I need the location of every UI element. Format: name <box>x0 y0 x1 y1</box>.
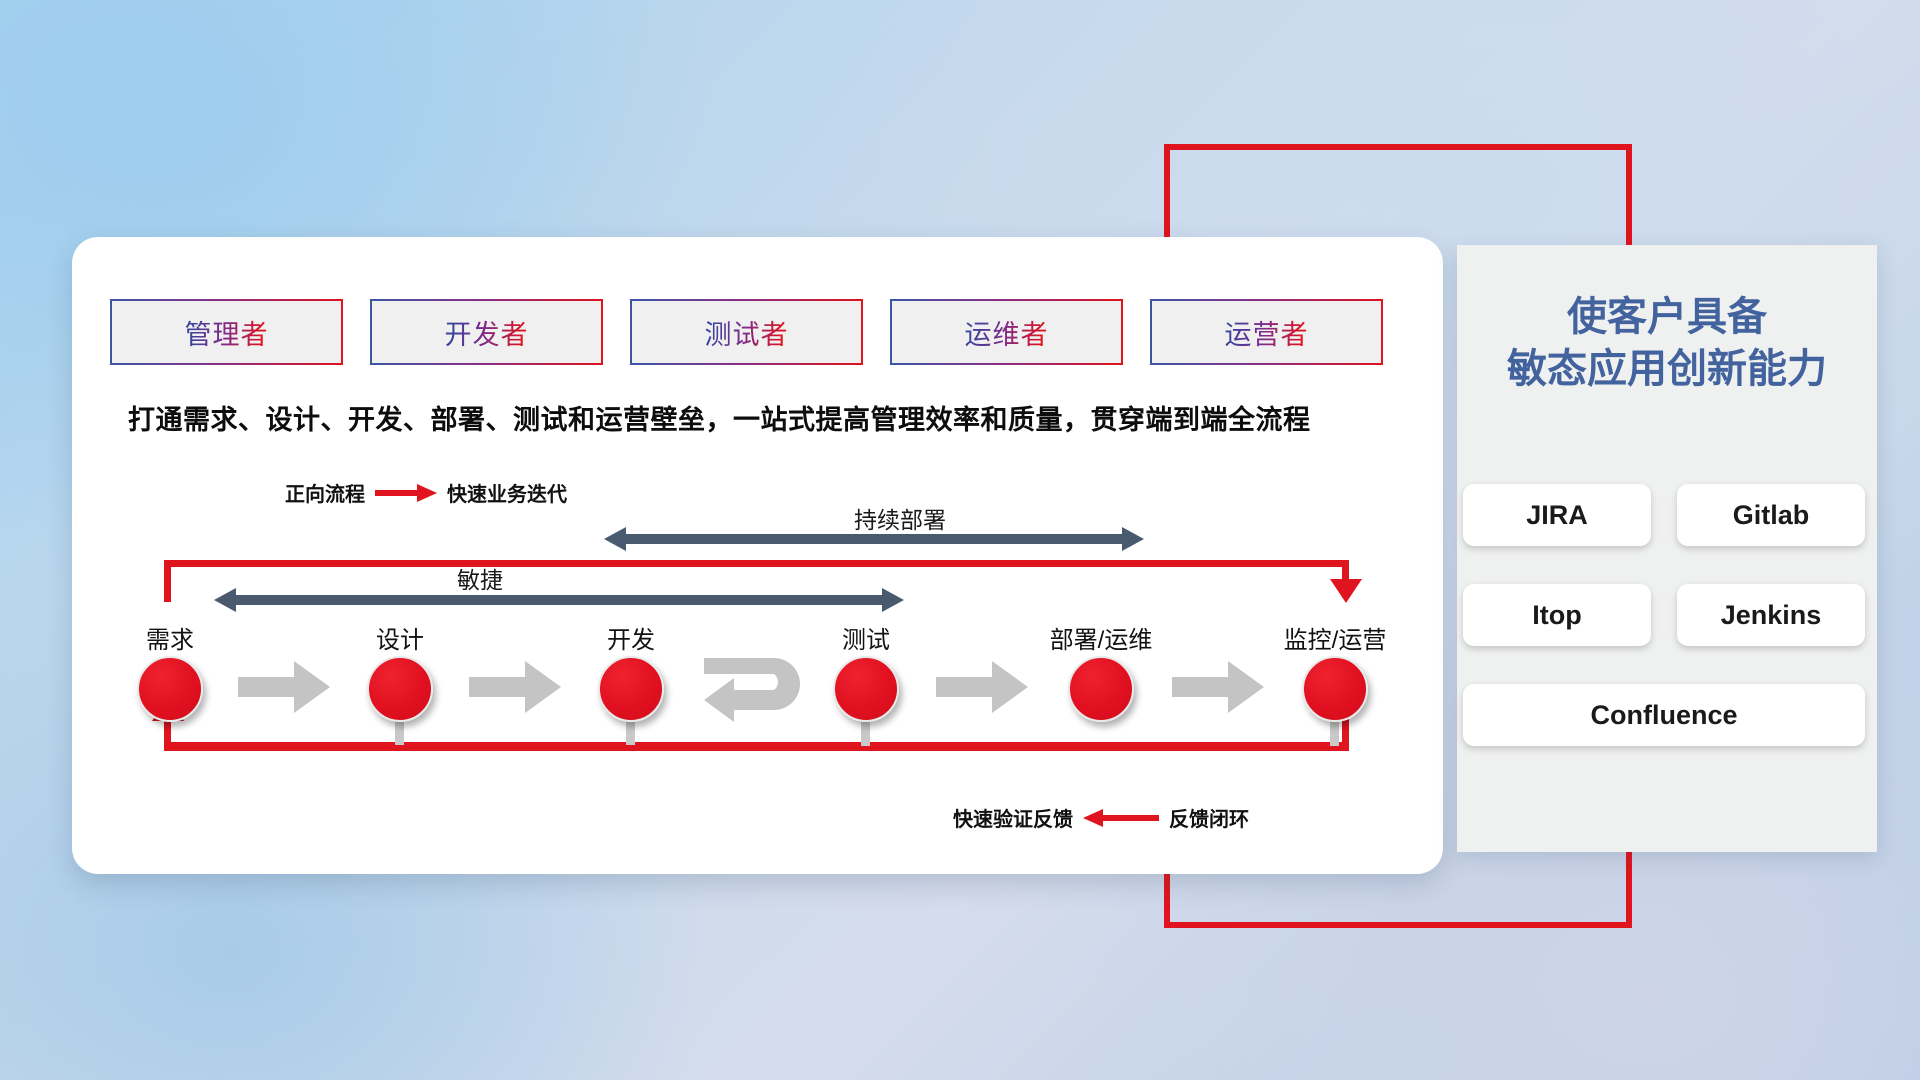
role-label: 管理者 <box>185 313 269 352</box>
stage-monitor-operations[interactable]: 监控/运营 <box>1300 620 1370 730</box>
stage-deploy-ops[interactable]: 部署/运维 <box>1066 620 1136 730</box>
stage-requirement[interactable]: 需求 <box>135 620 205 730</box>
stage-label: 监控/运营 <box>1284 620 1387 655</box>
role-box-developer[interactable]: 开发者 <box>370 299 603 365</box>
red-loop-top-segment <box>164 560 1349 567</box>
tool-label: JIRA <box>1526 500 1588 531</box>
role-label: 运维者 <box>965 313 1049 352</box>
flow-arrow-2-icon <box>469 661 561 713</box>
red-loop-bottom-segment <box>164 742 1349 751</box>
panel-title: 使客户具备 敏态应用创新能力 <box>1457 291 1877 395</box>
stage-label: 设计 <box>376 620 424 655</box>
stage-test[interactable]: 测试 <box>831 620 901 730</box>
role-box-operations[interactable]: 运营者 <box>1150 299 1383 365</box>
panel-title-line2: 敏态应用创新能力 <box>1457 343 1877 395</box>
tool-chip-gitlab[interactable]: Gitlab <box>1677 484 1865 546</box>
stage-label: 需求 <box>146 620 194 655</box>
stage-label: 测试 <box>842 620 890 655</box>
role-box-tester[interactable]: 测试者 <box>630 299 863 365</box>
slide-canvas: 管理者 开发者 测试者 运维者 运营者 打通需求、设计、开发、部署、测试和运营壁… <box>0 0 1920 1080</box>
stage-dot <box>833 656 899 722</box>
stage-dot <box>367 656 433 722</box>
legend-forward-flow: 正向流程 快速业务迭代 <box>285 478 567 507</box>
stage-label: 开发 <box>607 620 655 655</box>
flow-arrow-1-icon <box>238 661 330 713</box>
legend-feedback-right-label: 反馈闭环 <box>1169 803 1249 832</box>
stage-dot <box>1068 656 1134 722</box>
role-box-manager[interactable]: 管理者 <box>110 299 343 365</box>
page-headline: 打通需求、设计、开发、部署、测试和运营壁垒，一站式提高管理效率和质量，贯穿端到端… <box>128 398 1311 437</box>
stage-dot <box>598 656 664 722</box>
arrow-right-icon <box>375 483 437 503</box>
tool-chip-itop[interactable]: Itop <box>1463 584 1651 646</box>
role-label: 开发者 <box>445 313 529 352</box>
tool-chip-jira[interactable]: JIRA <box>1463 484 1651 546</box>
panel-title-line1: 使客户具备 <box>1457 291 1877 343</box>
red-loop-arrow-down-icon <box>1330 575 1362 603</box>
role-label: 测试者 <box>705 313 789 352</box>
flow-arrow-3-icon <box>936 661 1028 713</box>
tool-label: Itop <box>1532 600 1581 631</box>
tool-label: Confluence <box>1590 700 1737 731</box>
span-arrow-continuous-deployment <box>604 525 1144 553</box>
red-loop-left-riser <box>164 560 171 602</box>
role-box-ops[interactable]: 运维者 <box>890 299 1123 365</box>
stage-dot <box>137 656 203 722</box>
role-label: 运营者 <box>1225 313 1309 352</box>
tool-label: Jenkins <box>1721 600 1822 631</box>
flow-arrow-4-icon <box>1172 661 1264 713</box>
stage-design[interactable]: 设计 <box>365 620 435 730</box>
role-box-row: 管理者 开发者 测试者 运维者 运营者 <box>110 299 1398 365</box>
legend-feedback-left-label: 快速验证反馈 <box>953 803 1073 832</box>
legend-feedback-loop: 快速验证反馈 反馈闭环 <box>953 803 1249 832</box>
legend-forward-left-label: 正向流程 <box>285 478 365 507</box>
stage-label: 部署/运维 <box>1050 620 1153 655</box>
span-arrow-agile <box>214 586 904 614</box>
legend-forward-right-label: 快速业务迭代 <box>447 478 567 507</box>
rework-loop-arrow-icon <box>700 648 810 728</box>
tool-chip-jenkins[interactable]: Jenkins <box>1677 584 1865 646</box>
stage-develop[interactable]: 开发 <box>596 620 666 730</box>
stage-dot <box>1302 656 1368 722</box>
tool-chip-confluence[interactable]: Confluence <box>1463 684 1865 746</box>
tool-label: Gitlab <box>1733 500 1810 531</box>
arrow-left-icon <box>1083 808 1159 828</box>
